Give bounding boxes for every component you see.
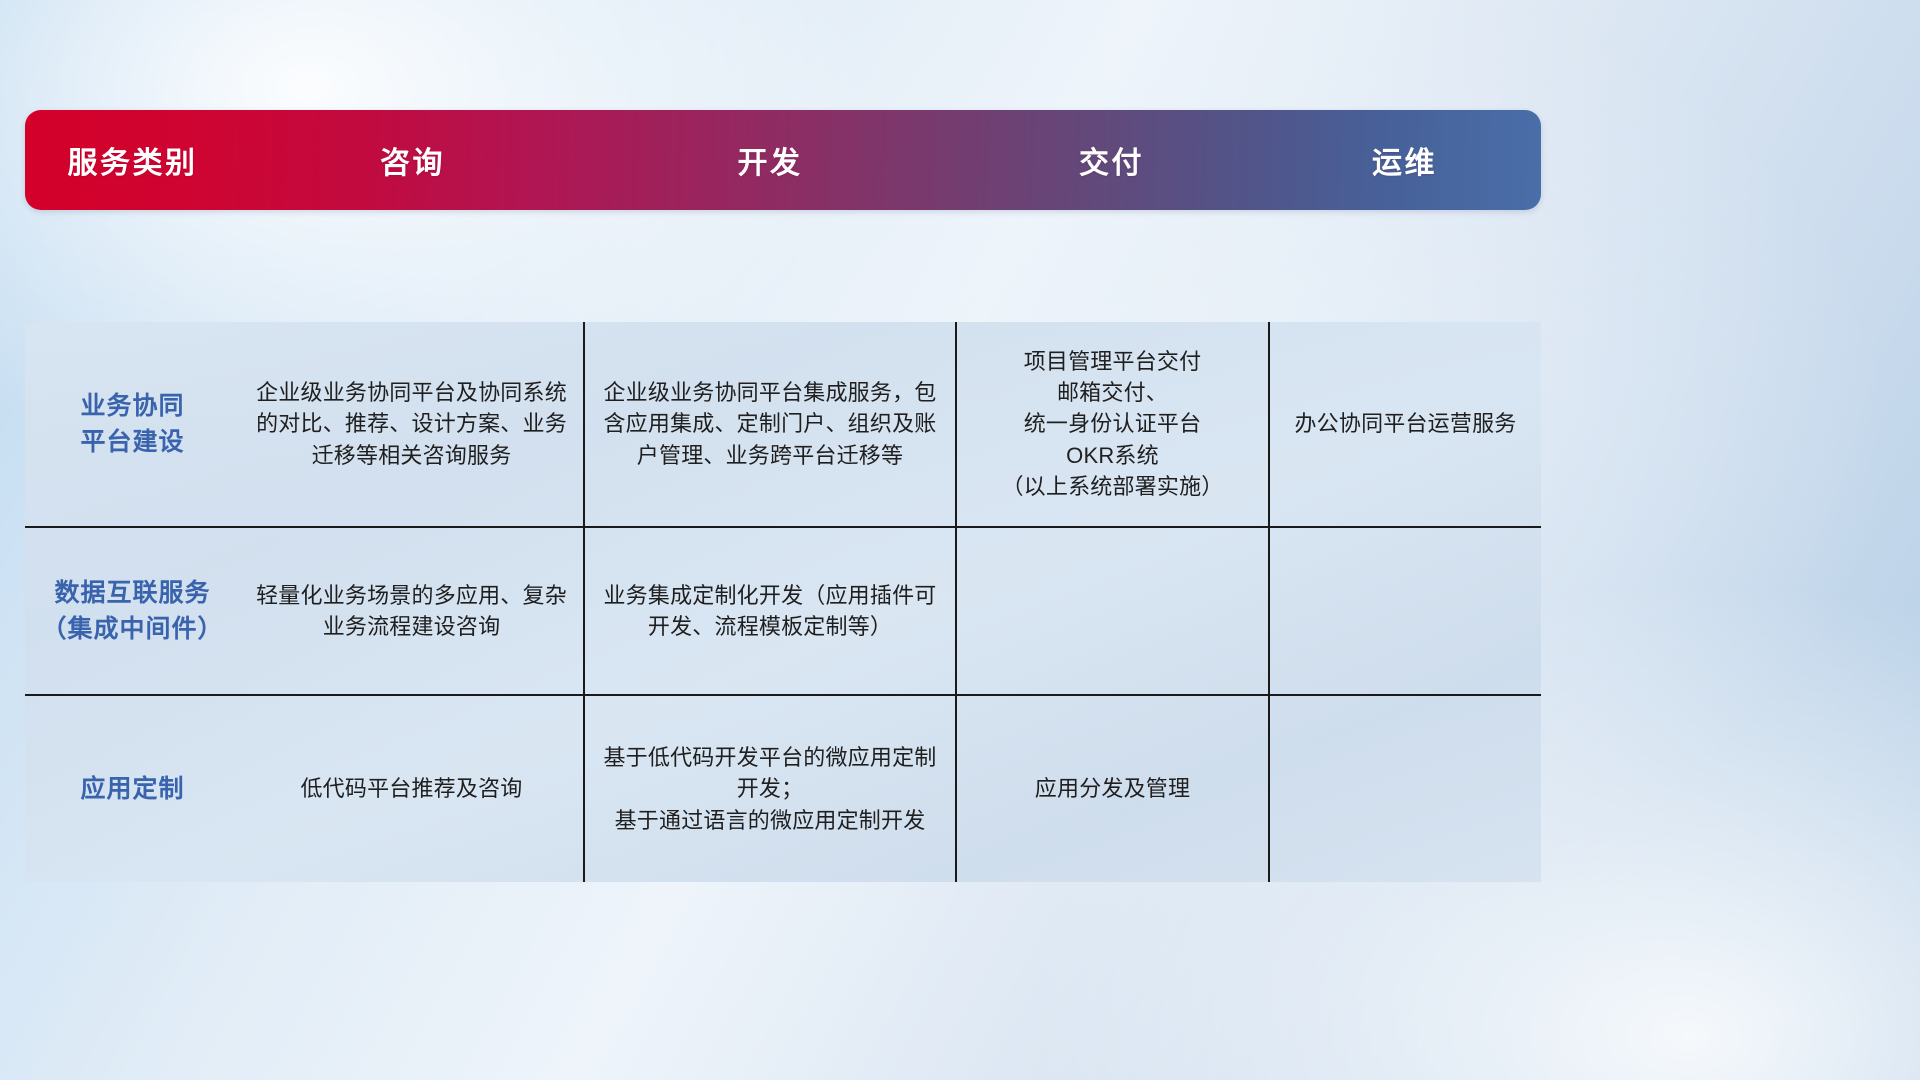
row-label-data-interconnect: 数据互联服务（集成中间件） [25, 528, 240, 694]
table-header-row: 服务类别 咨询 开发 交付 运维 [25, 110, 1541, 210]
cell-row3-development: 基于低代码开发平台的微应用定制开发；基于通过语言的微应用定制开发 [585, 696, 955, 882]
column-header-operations: 运维 [1268, 138, 1541, 182]
cell-row2-development: 业务集成定制化开发（应用插件可开发、流程模板定制等） [585, 528, 955, 694]
column-header-category: 服务类别 [25, 138, 240, 182]
column-header-development: 开发 [585, 138, 955, 182]
cell-row2-operations [1270, 528, 1541, 694]
service-matrix-table: 服务类别 咨询 开发 交付 运维 业务协同平台建设 企业级业务协同平台及协同系统… [25, 110, 1541, 772]
cell-row1-consulting: 企业级业务协同平台及协同系统的对比、推荐、设计方案、业务迁移等相关咨询服务 [240, 322, 583, 526]
column-header-consulting: 咨询 [240, 138, 585, 182]
row-label-business-collaboration: 业务协同平台建设 [25, 322, 240, 526]
cell-row3-delivery: 应用分发及管理 [957, 696, 1268, 882]
cell-row3-operations [1270, 696, 1541, 882]
cell-row1-operations: 办公协同平台运营服务 [1270, 322, 1541, 526]
table-body: 业务协同平台建设 企业级业务协同平台及协同系统的对比、推荐、设计方案、业务迁移等… [25, 322, 1541, 882]
column-header-delivery: 交付 [955, 138, 1268, 182]
page-root: 服务类别 咨询 开发 交付 运维 业务协同平台建设 企业级业务协同平台及协同系统… [0, 0, 1920, 1080]
row-label-app-customization: 应用定制 [25, 696, 240, 882]
cell-row2-consulting: 轻量化业务场景的多应用、复杂业务流程建设咨询 [240, 528, 583, 694]
cell-row1-delivery: 项目管理平台交付邮箱交付、统一身份认证平台OKR系统（以上系统部署实施） [957, 322, 1268, 526]
cell-row1-development: 企业级业务协同平台集成服务，包含应用集成、定制门户、组织及账户管理、业务跨平台迁… [585, 322, 955, 526]
cell-row3-consulting: 低代码平台推荐及咨询 [240, 696, 583, 882]
cell-row2-delivery [957, 528, 1268, 694]
